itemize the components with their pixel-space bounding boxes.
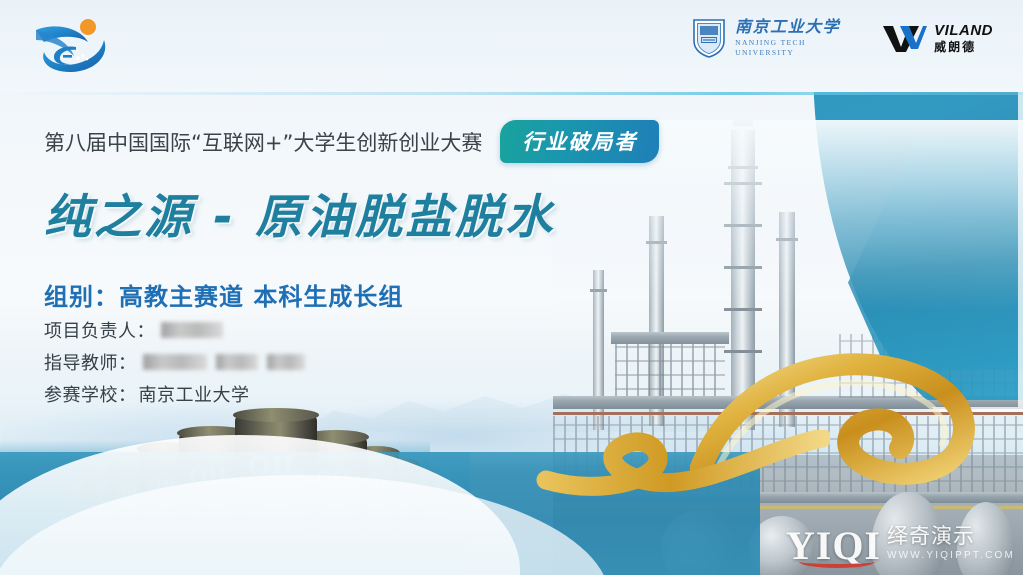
competition-header-row: 第八届中国国际“互联网+”大学生创新创业大赛 行业破局者: [44, 120, 659, 163]
presentation-slide: OIL OIL OIL OIL OIL OIL: [0, 0, 1023, 575]
competition-title: 第八届中国国际“互联网+”大学生创新创业大赛: [44, 127, 482, 157]
page-title: 纯之源 - 原油脱盐脱水: [44, 178, 555, 247]
redaction-group-advisors: [143, 354, 305, 370]
viland-w-mark-icon: [882, 23, 928, 53]
watermark-brand: YIQI: [786, 527, 881, 565]
refinery-upper-deck: [611, 332, 729, 344]
tower-platform: [724, 224, 762, 227]
watermark-url: WWW.YIQIPPT.COM: [887, 551, 1015, 561]
list-item: 参赛学校： 南京工业大学: [44, 380, 305, 407]
watermark: YIQI 绎奇演示 WWW.YIQIPPT.COM: [786, 526, 1015, 565]
watermark-brand-cn: 绎奇演示: [887, 526, 1015, 547]
partner-logos: 南京工业大学 NANJING TECH UNIVERSITY VILAND 威朗…: [692, 14, 993, 62]
list-item: 指导教师：: [44, 348, 305, 375]
viland-name-en: VILAND: [934, 23, 993, 38]
tower-platform: [724, 266, 762, 269]
redaction-group-leader: [161, 322, 223, 338]
njtech-name-en-line2: UNIVERSITY: [735, 49, 840, 57]
logo-sun-dot: [80, 19, 96, 35]
watermark-arc-icon: [799, 555, 875, 568]
viland-name-cn: 威朗德: [934, 41, 993, 53]
tower-cap: [733, 120, 753, 126]
info-label-leader: 项目负责人：: [44, 317, 155, 343]
list-item: 项目负责人：: [44, 316, 305, 343]
tower-platform: [724, 308, 762, 311]
project-info-list: 项目负责人： 指导教师： 参赛学校： 南京工业大学: [44, 316, 305, 412]
internet-plus-competition-logo-icon: [30, 14, 126, 78]
info-label-advisors: 指导教师：: [44, 349, 137, 375]
redaction-block: [216, 354, 258, 370]
nanjing-tech-crest-icon: [692, 18, 726, 58]
njtech-text-block: 南京工业大学 NANJING TECH UNIVERSITY: [735, 20, 840, 56]
njtech-name-cn: 南京工业大学: [735, 20, 840, 36]
viland-text-block: VILAND 威朗德: [934, 23, 993, 53]
info-label-school: 参赛学校：: [44, 381, 137, 407]
tower-platform: [724, 182, 762, 185]
watermark-right-block: 绎奇演示 WWW.YIQIPPT.COM: [887, 526, 1015, 565]
status-badge: 行业破局者: [500, 120, 659, 163]
redaction-block: [267, 354, 305, 370]
info-value-school: 南京工业大学: [139, 381, 250, 407]
viland-sponsor-logo: VILAND 威朗德: [882, 23, 993, 53]
nanjing-tech-university-logo: 南京工业大学 NANJING TECH UNIVERSITY: [692, 18, 840, 58]
redaction-block: [143, 354, 207, 370]
redaction-block: [161, 322, 223, 338]
header-underline: [0, 92, 1023, 95]
njtech-name-en-line1: NANJING TECH: [735, 39, 840, 47]
group-category-line: 组别：高教主赛道 本科生成长组: [44, 277, 403, 312]
